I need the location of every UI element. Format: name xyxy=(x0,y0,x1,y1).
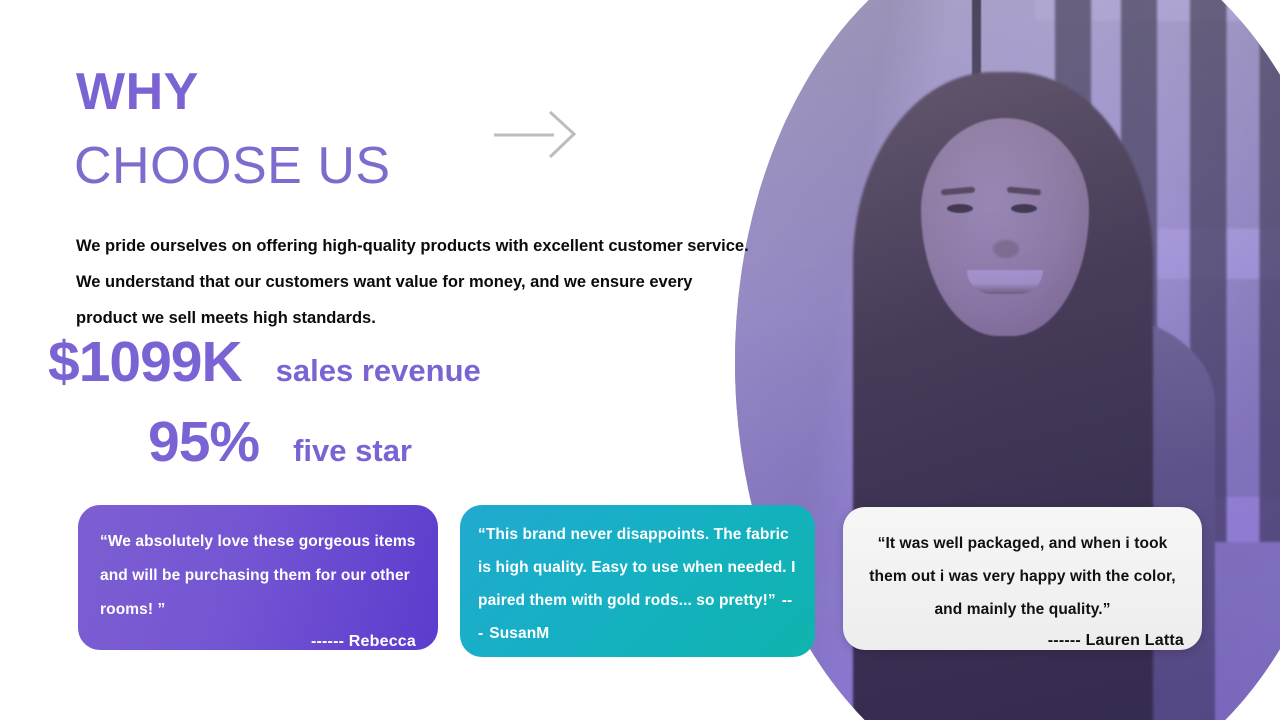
stat-value-sales-revenue: $1099K xyxy=(48,334,242,391)
testimonial-quote: “This brand never disappoints. The fabri… xyxy=(478,518,797,650)
arrow-right-icon xyxy=(492,108,578,165)
testimonial-quote: “It was well packaged, and when i took t… xyxy=(861,527,1184,626)
page-title-line-2: CHOOSE US xyxy=(74,140,391,192)
slide-why-choose-us: WHY CHOOSE US We pride ourselves on offe… xyxy=(0,0,1280,720)
testimonial-author: ------ Lauren Latta xyxy=(861,626,1184,656)
stat-label-five-star: five star xyxy=(293,435,412,466)
stat-five-star: 95% five star xyxy=(148,414,412,471)
stat-sales-revenue: $1099K sales revenue xyxy=(48,334,481,391)
testimonial-quote: “We absolutely love these gorgeous items… xyxy=(100,525,416,627)
page-title-line-1: WHY xyxy=(76,66,199,118)
testimonial-author: ------ Rebecca xyxy=(100,627,416,657)
intro-paragraph: We pride ourselves on offering high-qual… xyxy=(76,228,756,336)
testimonial-card-susanm: “This brand never disappoints. The fabri… xyxy=(460,505,815,657)
stat-value-five-star: 95% xyxy=(148,414,259,471)
testimonial-author: SusanM xyxy=(489,625,549,642)
testimonial-card-rebecca: “We absolutely love these gorgeous items… xyxy=(78,505,438,650)
testimonial-card-lauren-latta: “It was well packaged, and when i took t… xyxy=(843,507,1202,650)
stat-label-sales-revenue: sales revenue xyxy=(276,355,481,386)
testimonial-quote-text: “This brand never disappoints. The fabri… xyxy=(478,526,796,609)
